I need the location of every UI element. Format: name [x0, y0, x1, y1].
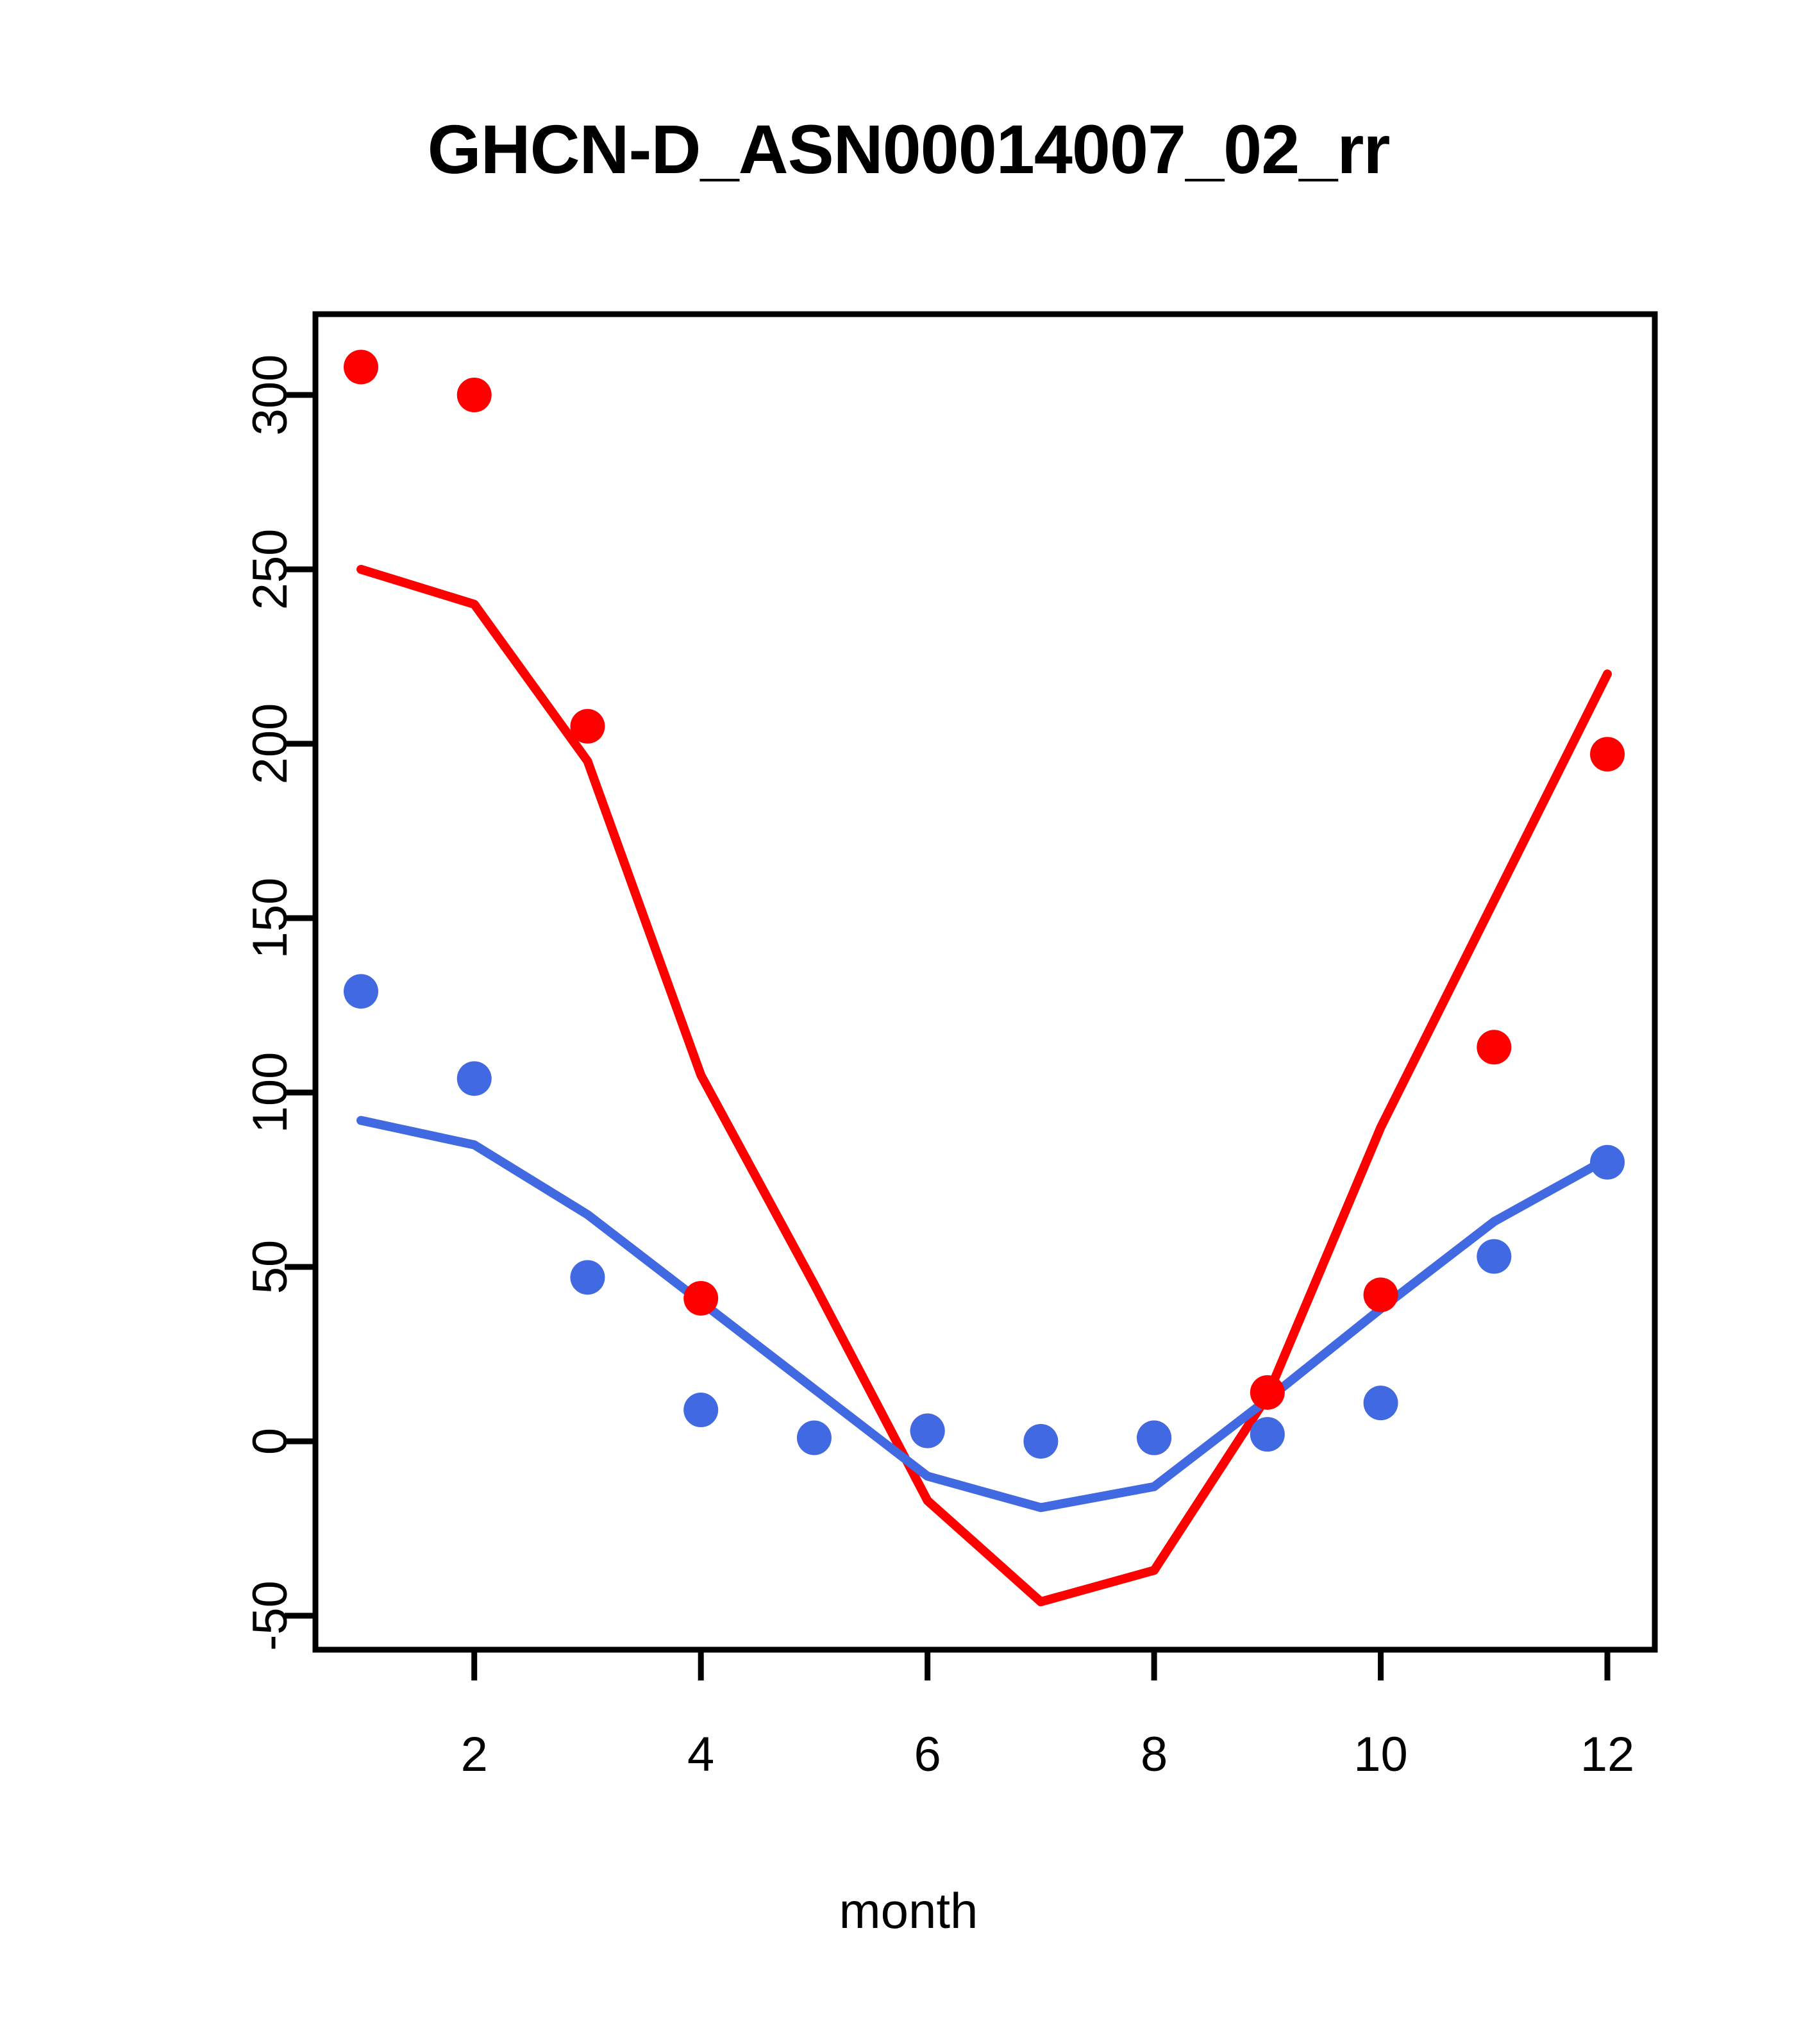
data-point-red-points-4 [683, 1281, 718, 1316]
data-point-red-points-10 [1364, 1278, 1398, 1312]
data-point-blue-points-2 [457, 1061, 492, 1096]
blue-points [344, 974, 1625, 1459]
x-tick-label-10: 10 [1304, 1727, 1458, 1782]
x-tick-label-6: 6 [851, 1727, 1005, 1782]
blue-line [361, 1121, 1607, 1508]
x-tick-label-4: 4 [624, 1727, 778, 1782]
data-point-blue-points-9 [1250, 1417, 1285, 1452]
y-tick-label-300: 300 [245, 260, 296, 530]
data-point-blue-points-8 [1137, 1421, 1171, 1455]
data-point-red-points-12 [1590, 737, 1625, 771]
red-points [344, 349, 1625, 1455]
data-point-blue-points-1 [344, 974, 378, 1009]
data-point-blue-points-5 [797, 1421, 832, 1455]
data-point-blue-points-4 [683, 1393, 718, 1427]
data-point-red-points-9 [1250, 1375, 1285, 1410]
x-axis-title: month [0, 1882, 1817, 1940]
data-point-blue-points-10 [1364, 1386, 1398, 1420]
data-point-blue-points-11 [1477, 1239, 1511, 1274]
data-point-red-points-11 [1477, 1030, 1511, 1064]
data-point-blue-points-12 [1590, 1145, 1625, 1180]
x-tick-label-8: 8 [1077, 1727, 1231, 1782]
x-tick-label-2: 2 [398, 1727, 551, 1782]
figure-canvas: GHCN-D_ASN00014007_02_rr -50050100150200… [0, 0, 1817, 2044]
data-point-blue-points-3 [570, 1260, 605, 1294]
red-line [361, 569, 1607, 1602]
data-point-red-points-3 [570, 709, 605, 744]
data-point-red-points-1 [344, 349, 378, 384]
x-tick-label-12: 12 [1530, 1727, 1684, 1782]
data-point-blue-points-6 [910, 1414, 945, 1448]
data-point-red-points-2 [457, 378, 492, 412]
data-point-blue-points-7 [1023, 1424, 1058, 1459]
